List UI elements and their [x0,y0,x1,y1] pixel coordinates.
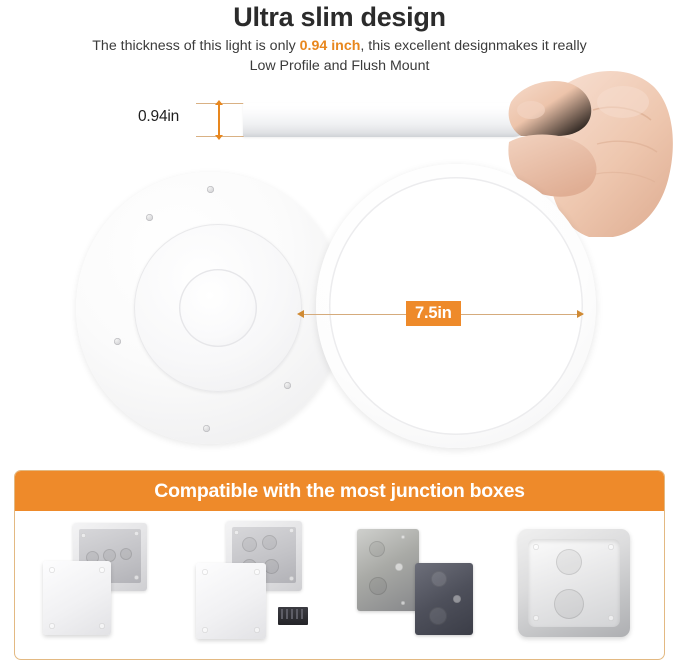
page-title: Ultra slim design [0,2,679,32]
led-light-mounting-plate [76,172,344,444]
terminal-block [278,607,308,625]
diameter-badge: 7.5in [406,301,461,326]
knockout [120,548,132,560]
subtitle-line-2: Low Profile and Flush Mount [28,56,651,76]
vertical-double-arrow-icon [218,104,220,136]
lid-screw [49,623,55,629]
thickness-label: 0.94in [138,108,179,126]
screw-boss [81,533,86,538]
subtitle-highlight: 0.94 inch [300,38,361,54]
lid-screw [99,567,105,573]
diameter-arrow-left-icon [297,310,304,318]
screw-boss [134,531,139,536]
metal-box-body [357,529,419,611]
knockout [262,535,277,550]
compatibility-banner-title: Compatible with the most junction boxes [154,480,525,503]
junction-box-item [29,515,179,655]
plate-screw [284,382,291,389]
header-section: Ultra slim design The thickness of this … [0,0,679,76]
plate-screw [203,425,210,432]
compatibility-banner: Compatible with the most junction boxes [15,471,664,511]
junction-box-item [500,515,650,655]
led-panel-edge-view [243,103,530,137]
knockout [431,571,447,587]
lid-screw [99,623,105,629]
junction-box-item [186,515,336,655]
subtitle-part-1: The thickness of this light is only [92,38,299,54]
subtitle-part-2: , this excellent designmakes it really [360,38,586,54]
screw-boss [289,576,294,581]
screw-boss [289,528,294,533]
plate-screw [207,186,214,193]
junction-box-gallery [15,511,664,659]
compatibility-card: Compatible with the most junction boxes [14,470,665,660]
screw-boss [234,530,239,535]
plate-screw [146,214,153,221]
knockout [429,607,447,625]
lid-screw [202,627,208,633]
subtitle: The thickness of this light is only 0.94… [0,36,679,76]
lid-screw [49,567,55,573]
product-infographic: Ultra slim design The thickness of this … [0,0,679,671]
knockout [242,537,257,552]
lid-screw [202,569,208,575]
lid-screw [254,569,260,575]
plate-screw [114,338,121,345]
diameter-arrow-right-icon [577,310,584,318]
lid-screw [254,627,260,633]
knockout [369,541,385,557]
junction-box-item [343,515,493,655]
screw-boss [134,575,139,580]
knockout [369,577,387,595]
knockout [264,559,279,574]
plate-center-disc [179,269,257,347]
